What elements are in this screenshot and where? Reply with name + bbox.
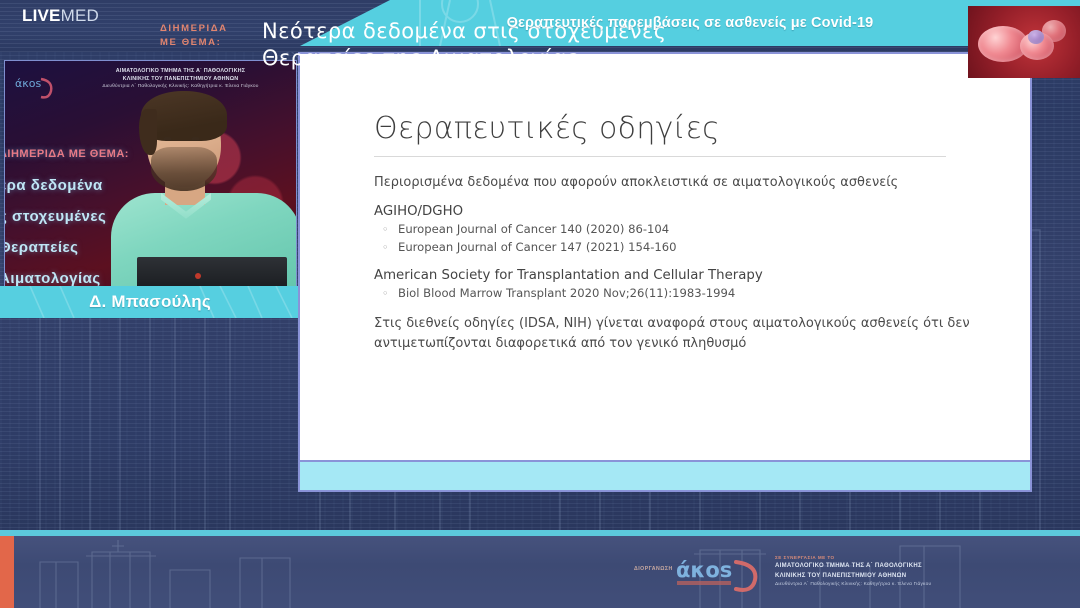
slide-closing-paragraph: Στις διεθνείς οδηγίες (IDSA, NIH) γίνετα… <box>374 314 986 354</box>
slide-title-divider <box>374 156 946 157</box>
backdrop-akos-logo-icon: άκοs <box>13 71 57 101</box>
slide-content-area: Θεραπευτικές οδηγίες Περιορισμένα δεδομέ… <box>300 54 1030 462</box>
spacer <box>374 256 944 267</box>
footer-collaboration-block: ΣΕ ΣΥΝΕΡΓΑΣΙΑ ΜΕ ΤΟ ΑΙΜΑΤΟΛΟΓΙΚΟ ΤΜΗΜΑ Τ… <box>775 554 955 589</box>
spacer <box>374 192 944 203</box>
speaker-video-panel[interactable]: άκοs ΑΙΜΑΤΟΛΟΓΙΚΟ ΤΜΗΜΑ ΤΗΣ Α΄ ΠΑΘΟΛΟΓΙΚ… <box>4 60 297 292</box>
spacer <box>374 303 944 314</box>
list-item: European Journal of Cancer 147 (2021) 15… <box>374 239 944 257</box>
svg-text:άκοs: άκοs <box>15 77 41 90</box>
backdrop-main-line1: ΔΙΗΜΕΡΙΔΑ ΜΕ ΘΕΜΑ: <box>4 139 129 170</box>
footer-collab-sub: Διευθύντρια Α΄ Παθολογικής Κλινικής: Καθ… <box>775 581 955 589</box>
broadcast-viewport: Θεραπευτικές παρεμβάσεις σε ασθενείς με … <box>0 0 1080 608</box>
footer-collab-line1: ΑΙΜΑΤΟΛΟΓΙΚΟ ΤΜΗΜΑ ΤΗΣ Α΄ ΠΑΘΟΛΟΓΙΚΗΣ <box>775 562 955 571</box>
footer-event-title-line2: Θεραπείες της Αιματολογίας <box>262 45 666 72</box>
slide-bottom-accent-bar <box>300 460 1030 490</box>
list-item: Biol Blood Marrow Transplant 2020 Nov;26… <box>374 285 944 303</box>
logo-med-text: MED <box>61 6 99 25</box>
speaker-eye-left <box>163 137 172 141</box>
header-title: Θεραπευτικές παρεμβάσεις σε ασθενείς με … <box>300 0 1080 46</box>
footer-organizer-label: ΔΙΟΡΓΑΝΩΣΗ <box>634 566 673 572</box>
slide-body: Περιορισμένα δεδομένα που αφορούν αποκλε… <box>374 174 944 354</box>
footer-theme-label: ΔΙΗΜΕΡΙΔΑ ΜΕ ΘΕΜΑ: <box>160 22 228 50</box>
footer-theme-label-line1: ΔΙΗΜΕΡΙΔΑ <box>160 22 228 36</box>
speaker-eye-right <box>191 137 200 141</box>
footer-orange-strip <box>0 536 14 608</box>
footer-theme-label-line2: ΜΕ ΘΕΜΑ: <box>160 36 228 50</box>
slide-section2-heading: American Society for Transplantation and… <box>374 267 944 285</box>
slide-title: Θεραπευτικές οδηγίες <box>374 110 944 148</box>
footer-collab-top: ΣΕ ΣΥΝΕΡΓΑΣΙΑ ΜΕ ΤΟ <box>775 554 955 561</box>
list-item: European Journal of Cancer 140 (2020) 86… <box>374 221 944 239</box>
akos-logo-icon[interactable]: άκοs <box>674 552 782 592</box>
slide-inner-content: Θεραπευτικές οδηγίες Περιορισμένα δεδομέ… <box>374 54 944 354</box>
livemed-logo[interactable]: LIVEMED <box>22 6 99 26</box>
footer-collab-line2: ΚΛΙΝΙΚΗΣ ΤΟΥ ΠΑΝΕΠΙΣΤΗΜΙΟΥ ΑΘΗΝΩΝ <box>775 572 955 581</box>
slide-section1-heading: AGIHO/DGHO <box>374 203 944 221</box>
svg-text:άκοs: άκοs <box>676 558 732 582</box>
speaker-name-text: Δ. Μπασούλης <box>89 292 211 312</box>
backdrop-main-line3: ς στοχευμένες <box>4 201 129 232</box>
speaker-name-banner: Δ. Μπασούλης <box>0 286 300 318</box>
speaker-hair-side <box>139 109 157 155</box>
presentation-slide[interactable]: Θεραπευτικές οδηγίες Περιορισμένα δεδομέ… <box>298 52 1032 492</box>
logo-live-text: LIVE <box>22 6 61 25</box>
slide-intro-line: Περιορισμένα δεδομένα που αφορούν αποκλε… <box>374 174 944 192</box>
header-title-text: Θεραπευτικές παρεμβάσεις σε ασθενείς με … <box>507 15 874 31</box>
speaker-beard <box>151 147 217 191</box>
speaker-figure <box>117 89 292 292</box>
backdrop-header-line2: ΚΛΙΝΙΚΗΣ ΤΟΥ ΠΑΝΕΠΙΣΤΗΜΙΟΥ ΑΘΗΝΩΝ <box>63 75 297 83</box>
backdrop-main-line2: ερα δεδομένα <box>4 170 129 201</box>
